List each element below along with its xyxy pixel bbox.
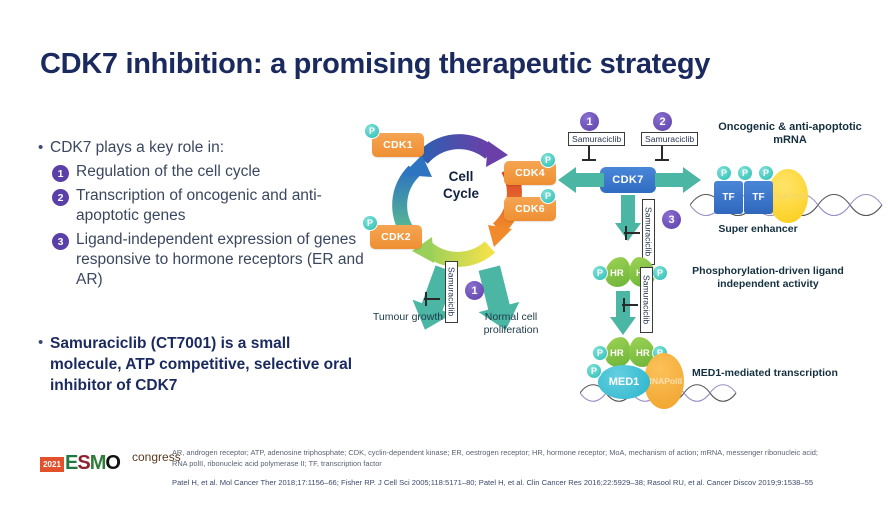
bullet-emphasis: • Samuraciclib (CT7001) is a small molec… <box>38 333 358 396</box>
polymerase-med-line2: PolII <box>664 377 682 386</box>
label-phospho-ligand: Phosphorylation-driven ligand independen… <box>670 265 866 291</box>
label-tumour-growth: Tumour growth <box>358 311 458 324</box>
inhibition-bar-icon <box>624 223 646 243</box>
bullet-marker: • <box>38 138 50 158</box>
phospho-icon: P <box>758 165 774 181</box>
logo-year: 2021 <box>40 457 64 472</box>
hr-label-1: HR <box>610 268 624 279</box>
rna-polii-oval-enhancer: RNA PolII <box>768 169 808 223</box>
label-phospho-line1: Phosphorylation-driven ligand <box>670 265 866 278</box>
logo-letter-o: O <box>105 452 120 474</box>
hr-label-med-2: HR <box>636 348 650 359</box>
label-normal-line1: Normal cell <box>466 311 556 324</box>
number-badge-3: 3 <box>52 233 69 250</box>
inhibition-bar-icon <box>653 146 671 164</box>
label-normal-proliferation: Normal cell proliferation <box>466 311 556 337</box>
logo-letter-e: E <box>65 452 77 474</box>
node-cdk1: CDK1 <box>372 133 424 157</box>
label-phospho-line2: independent activity <box>670 278 866 291</box>
number-badge-2: 2 <box>52 189 69 206</box>
step-badge-1: 1 <box>465 281 484 300</box>
node-cdk2: CDK2 <box>370 225 422 249</box>
cell-cycle-center-line1: Cell <box>426 168 496 185</box>
tf-box-1: TF <box>714 181 743 214</box>
cell-cycle-center-label: Cell Cycle <box>426 168 496 202</box>
label-normal-line2: proliferation <box>466 324 556 337</box>
bullet-lead-text: CDK7 plays a key role in: <box>50 138 224 158</box>
logo-letter-m: M <box>90 452 106 474</box>
inhibitor-label-right: Samuraciclib <box>641 132 698 146</box>
number-badge-1: 1 <box>52 165 69 182</box>
phospho-icon: P <box>586 363 602 379</box>
phospho-icon: P <box>362 215 378 231</box>
arrow-cdk7-to-cdk46-icon <box>558 167 606 193</box>
list-item-label: Transcription of oncogenic and anti-apop… <box>76 186 368 226</box>
phospho-icon: P <box>652 265 668 281</box>
bullet-emphasis-text: Samuraciclib (CT7001) is a small molecul… <box>50 333 358 396</box>
polymerase-line2: PolII <box>788 192 806 201</box>
node-cdk7: CDK7 <box>600 167 656 193</box>
label-oncogenic-line2: mRNA <box>700 134 880 147</box>
step-badge-1-hub: 1 <box>580 112 599 131</box>
step-badge-2-hub: 2 <box>653 112 672 131</box>
phospho-icon: P <box>592 265 608 281</box>
logo-letters: ESMO <box>65 452 120 475</box>
logo-letter-s: S <box>77 452 89 474</box>
list-item: 2 Transcription of oncogenic and anti-ap… <box>52 186 368 226</box>
inhibition-bar-icon <box>580 146 598 164</box>
inhibition-bar-icon <box>424 289 446 309</box>
page-title: CDK7 inhibition: a promising therapeutic… <box>40 48 800 81</box>
label-oncogenic-mrna: Oncogenic & anti-apoptotic mRNA <box>700 121 880 147</box>
med1-oval: MED1 <box>598 365 650 399</box>
inhibitor-label-left: Samuraciclib <box>568 132 625 146</box>
phospho-icon: P <box>716 165 732 181</box>
list-item-label: Regulation of the cell cycle <box>76 162 260 182</box>
phospho-icon: P <box>592 345 608 361</box>
mechanism-diagram: Cell Cycle CDK1 P CDK2 P CDK4 P CDK6 P S… <box>352 115 882 425</box>
bullet-lead: • CDK7 plays a key role in: <box>38 138 368 158</box>
list-item: 3 Ligand-independent expression of genes… <box>52 230 368 290</box>
esmo-logo: 2021 ESMO congress <box>40 450 170 480</box>
abbreviations-note: AR, androgen receptor; ATP, adenosine tr… <box>172 448 832 469</box>
slide-root: CDK7 inhibition: a promising therapeutic… <box>0 0 888 510</box>
list-item-label: Ligand-independent expression of genes r… <box>76 230 368 290</box>
label-med1-transcription: MED1-mediated transcription <box>692 367 888 380</box>
phospho-icon: P <box>364 123 380 139</box>
phospho-icon: P <box>737 165 753 181</box>
tf-box-2: TF <box>744 181 773 214</box>
phospho-icon: P <box>540 188 556 204</box>
list-item: 1 Regulation of the cell cycle <box>52 162 368 182</box>
bullet-marker: • <box>38 333 50 396</box>
label-oncogenic-line1: Oncogenic & anti-apoptotic <box>700 121 880 134</box>
cell-cycle-center-line2: Cycle <box>426 185 496 202</box>
phospho-icon: P <box>540 152 556 168</box>
bullet-list: • CDK7 plays a key role in: 1 Regulation… <box>38 138 368 294</box>
hr-label-med-1: HR <box>610 348 624 359</box>
inhibition-bar-icon <box>622 295 644 315</box>
rna-polii-oval-med1: RNA PolII <box>644 353 684 409</box>
references-note: Patel H, et al. Mol Cancer Ther 2018;17:… <box>172 477 832 488</box>
step-badge-3-hub: 3 <box>662 210 681 229</box>
label-super-enhancer: Super enhancer <box>698 223 818 236</box>
